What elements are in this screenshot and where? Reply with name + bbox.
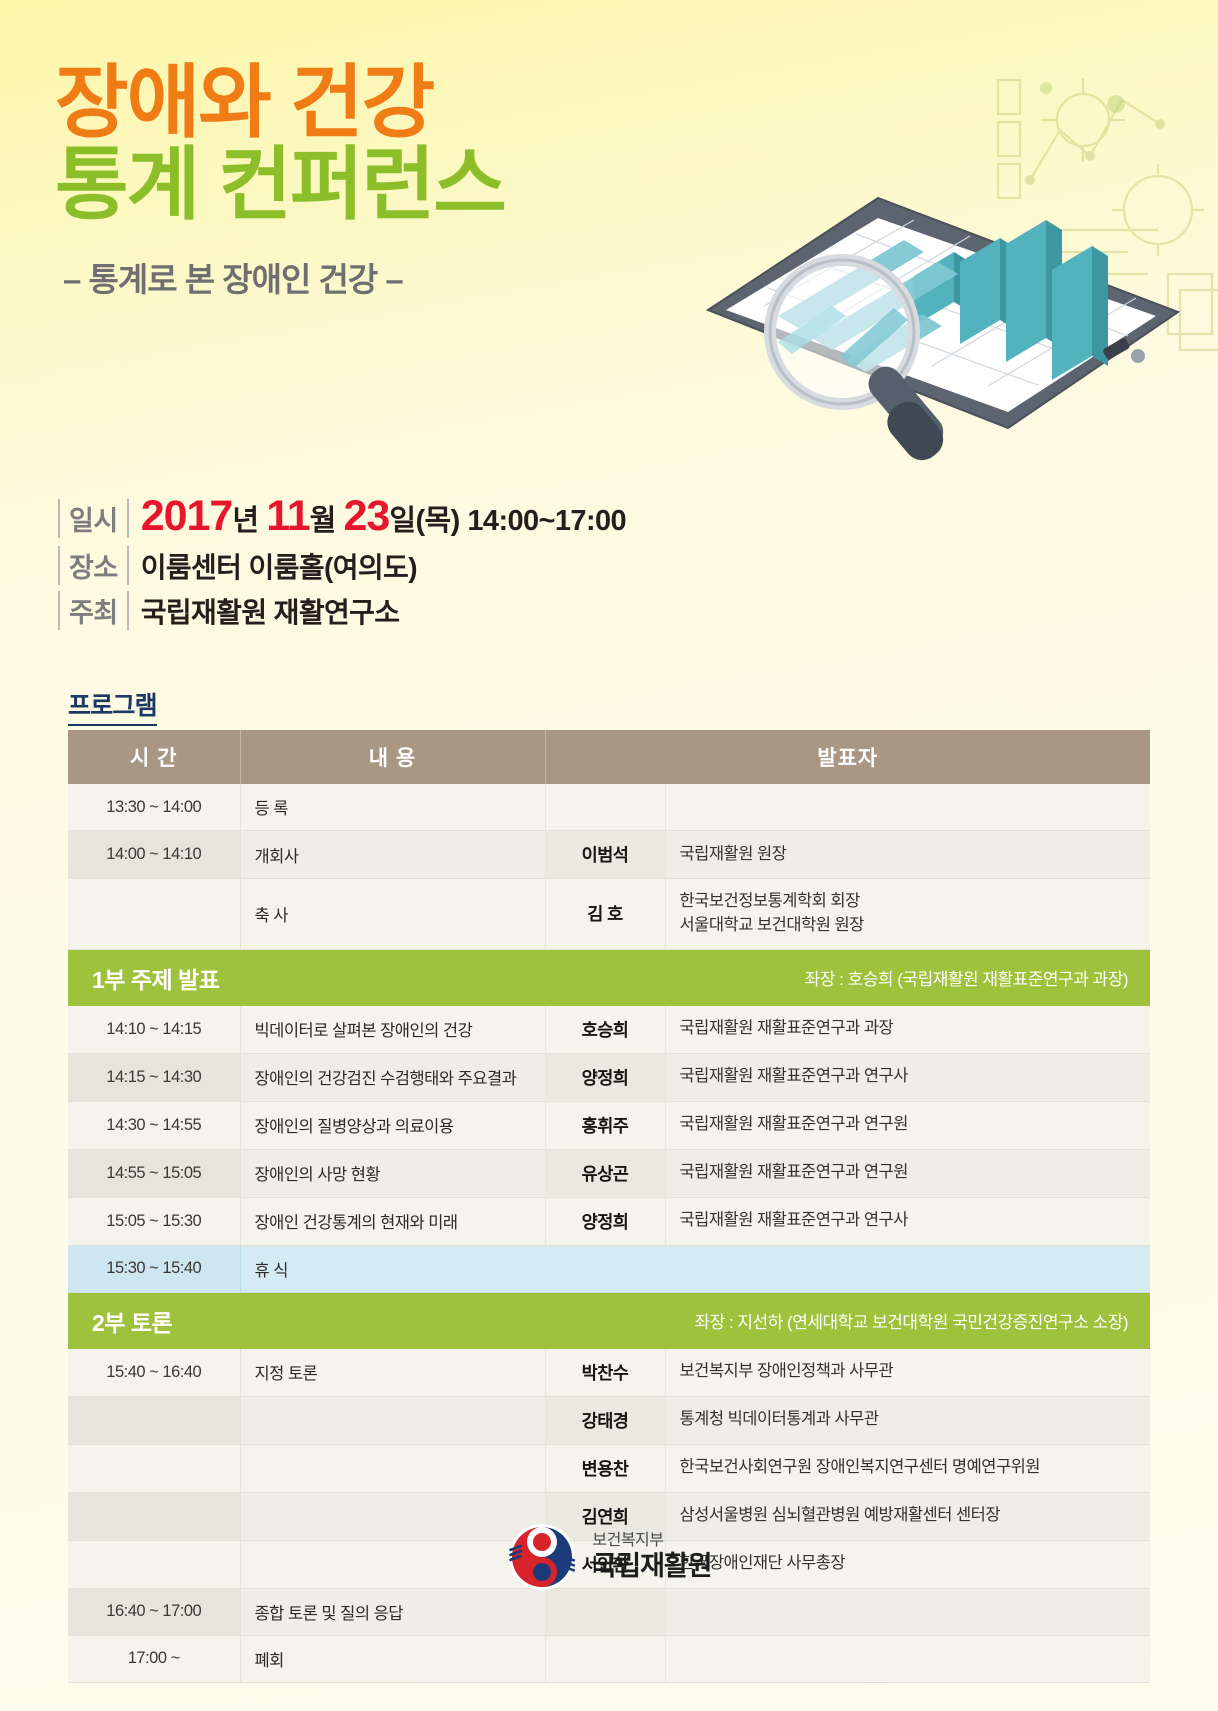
cell-presenter-name: 호승희 — [545, 1006, 665, 1054]
affiliation-line: 한국보건사회연구원 장애인복지연구센터 명예연구위원 — [680, 1456, 1137, 1480]
tablet-chart-illustration — [698, 60, 1218, 520]
event-month-unit: 월 — [310, 505, 336, 537]
event-month: 11 — [266, 492, 309, 540]
cell-time: 15:05 ~ 15:30 — [68, 1197, 240, 1245]
program-row: 축 사김 호한국보건정보통계학회 회장서울대학교 보건대학원 원장 — [68, 879, 1150, 950]
cell-presenter-affiliation: 통계청 빅데이터통계과 사무관 — [665, 1396, 1150, 1444]
footer-logo-text: 보건복지부 국립재활원 — [592, 1532, 711, 1581]
event-day-unit: 일(목) — [389, 505, 459, 537]
affiliation-line: 통계청 빅데이터통계과 사무관 — [680, 1408, 1137, 1432]
cell-presenter-name — [545, 1635, 665, 1682]
cell-presenter-name: 강태경 — [545, 1396, 665, 1444]
cell-presenter-affiliation: 국립재활원 원장 — [665, 831, 1150, 879]
cell-content — [240, 1444, 545, 1492]
program-section-cell: 2부 토론좌장 : 지선하 (연세대학교 보건대학원 국민건강증진연구소 소장) — [68, 1292, 1150, 1349]
cell-content: 축 사 — [240, 879, 545, 950]
cell-time: 14:30 ~ 14:55 — [68, 1101, 240, 1149]
program-row: 13:30 ~ 14:00등 록 — [68, 784, 1150, 831]
cell-time: 14:00 ~ 14:10 — [68, 831, 240, 879]
section-title: 2부 토론 — [92, 1304, 172, 1338]
event-date-label: 일시 — [58, 499, 129, 538]
event-time: 14:00~17:00 — [467, 505, 626, 537]
cell-presenter-affiliation — [665, 1588, 1150, 1635]
cell-content: 지정 토론 — [240, 1349, 545, 1397]
event-day: 23 — [344, 492, 390, 540]
event-info-block: 일시 2017년 11월 23일(목) 14:00~17:00 장소 이룸센터 … — [58, 492, 818, 636]
cell-presenter-affiliation: 한국보건사회연구원 장애인복지연구센터 명예연구위원 — [665, 1444, 1150, 1492]
cell-presenter-name: 양정희 — [545, 1053, 665, 1101]
program-row: 14:00 ~ 14:10개회사이범석국립재활원 원장 — [68, 831, 1150, 879]
footer-ministry-name: 보건복지부 — [592, 1532, 711, 1550]
section-chair: 좌장 : 호승희 (국립재활원 재활표준연구과 과장) — [805, 965, 1128, 990]
cell-presenter-affiliation: 국립재활원 재활표준연구과 연구원 — [665, 1149, 1150, 1197]
cell-presenter-affiliation — [665, 1635, 1150, 1682]
cell-presenter-name — [545, 1245, 665, 1292]
cell-presenter-name: 양정희 — [545, 1197, 665, 1245]
program-row: 16:40 ~ 17:00종합 토론 및 질의 응답 — [68, 1588, 1150, 1635]
cell-content: 종합 토론 및 질의 응답 — [240, 1588, 545, 1635]
cell-time: 16:40 ~ 17:00 — [68, 1588, 240, 1635]
poster-subtitle: – 통계로 본 장애인 건강 – — [63, 253, 675, 301]
event-year: 2017 — [141, 492, 233, 540]
event-place-value: 이룸센터 이룸홀(여의도) — [141, 546, 417, 586]
program-table-head: 시 간 내 용 발표자 — [68, 730, 1150, 784]
cell-presenter-name: 박찬수 — [545, 1349, 665, 1397]
cell-presenter-name: 변용찬 — [545, 1444, 665, 1492]
footer-organization-name: 국립재활원 — [592, 1551, 711, 1582]
affiliation-line: 국립재활원 원장 — [680, 843, 1137, 867]
affiliation-line: 국립재활원 재활표준연구과 연구원 — [680, 1161, 1137, 1185]
affiliation-line: 국립재활원 재활표준연구과 연구사 — [680, 1065, 1137, 1089]
cell-time: 15:40 ~ 16:40 — [68, 1349, 240, 1397]
program-section-cell: 1부 주제 발표좌장 : 호승희 (국립재활원 재활표준연구과 과장) — [68, 949, 1150, 1006]
column-header-time: 시 간 — [68, 730, 240, 784]
affiliation-line: 보건복지부 장애인정책과 사무관 — [680, 1360, 1137, 1384]
cell-presenter-affiliation: 국립재활원 재활표준연구과 연구원 — [665, 1101, 1150, 1149]
program-row: 15:05 ~ 15:30장애인 건강통계의 현재와 미래양정희국립재활원 재활… — [68, 1197, 1150, 1245]
affiliation-line: 국립재활원 재활표준연구과 과장 — [680, 1017, 1137, 1041]
cell-content — [240, 1396, 545, 1444]
cell-presenter-name: 김 호 — [545, 879, 665, 950]
cell-presenter-name — [545, 784, 665, 831]
cell-presenter-affiliation: 한국보건정보통계학회 회장서울대학교 보건대학원 원장 — [665, 879, 1150, 950]
cell-presenter-affiliation: 보건복지부 장애인정책과 사무관 — [665, 1349, 1150, 1397]
cell-time — [68, 879, 240, 950]
section-chair: 좌장 : 지선하 (연세대학교 보건대학원 국민건강증진연구소 소장) — [694, 1308, 1128, 1333]
cell-presenter-affiliation: 국립재활원 재활표준연구과 연구사 — [665, 1053, 1150, 1101]
program-row: 14:15 ~ 14:30장애인의 건강검진 수검행태와 주요결과양정희국립재활… — [68, 1053, 1150, 1101]
cell-presenter-name: 이범석 — [545, 831, 665, 879]
event-place-label: 장소 — [58, 546, 129, 585]
program-row: 17:00 ~폐회 — [68, 1635, 1150, 1682]
program-row: 15:40 ~ 16:40지정 토론박찬수보건복지부 장애인정책과 사무관 — [68, 1349, 1150, 1397]
cell-content: 장애인의 사망 현황 — [240, 1149, 545, 1197]
cell-time — [68, 1396, 240, 1444]
cell-content: 휴 식 — [240, 1245, 545, 1292]
government-emblem-icon — [506, 1521, 578, 1593]
cell-presenter-affiliation: 국립재활원 재활표준연구과 연구사 — [665, 1197, 1150, 1245]
cell-content: 개회사 — [240, 831, 545, 879]
section-bar: 2부 토론좌장 : 지선하 (연세대학교 보건대학원 국민건강증진연구소 소장) — [68, 1293, 1150, 1349]
cell-presenter-name — [545, 1588, 665, 1635]
program-section-row: 2부 토론좌장 : 지선하 (연세대학교 보건대학원 국민건강증진연구소 소장) — [68, 1292, 1150, 1349]
cell-time: 13:30 ~ 14:00 — [68, 784, 240, 831]
affiliation-line: 서울대학교 보건대학원 원장 — [680, 914, 1137, 938]
event-year-unit: 년 — [232, 505, 258, 537]
cell-presenter-affiliation — [665, 784, 1150, 831]
cell-time — [68, 1444, 240, 1492]
event-host-value: 국립재활원 재활연구소 — [141, 591, 400, 631]
event-host-label: 주최 — [58, 591, 129, 630]
poster-title-line-1: 장애와 건강 — [55, 62, 675, 144]
program-break-row: 15:30 ~ 15:40휴 식 — [68, 1245, 1150, 1292]
poster-title-block: 장애와 건강 통계 컨퍼런스 – 통계로 본 장애인 건강 – — [55, 62, 675, 301]
cell-presenter-name: 유상곤 — [545, 1149, 665, 1197]
event-date-row: 일시 2017년 11월 23일(목) 14:00~17:00 — [58, 492, 818, 541]
column-header-content: 내 용 — [240, 730, 545, 784]
program-header-row: 시 간 내 용 발표자 — [68, 730, 1150, 784]
event-place-row: 장소 이룸센터 이룸홀(여의도) — [58, 546, 818, 586]
cell-time: 17:00 ~ — [68, 1635, 240, 1682]
cell-time: 14:10 ~ 14:15 — [68, 1006, 240, 1054]
program-row: 14:30 ~ 14:55장애인의 질병양상과 의료이용홍휘주국립재활원 재활표… — [68, 1101, 1150, 1149]
cell-content: 빅데이터로 살펴본 장애인의 건강 — [240, 1006, 545, 1054]
cell-presenter-affiliation: 국립재활원 재활표준연구과 과장 — [665, 1006, 1150, 1054]
program-row: 강태경통계청 빅데이터통계과 사무관 — [68, 1396, 1150, 1444]
cell-content: 장애인의 질병양상과 의료이용 — [240, 1101, 545, 1149]
program-row: 14:55 ~ 15:05장애인의 사망 현황유상곤국립재활원 재활표준연구과 … — [68, 1149, 1150, 1197]
cell-presenter-affiliation — [665, 1245, 1150, 1292]
event-date-value: 2017년 11월 23일(목) 14:00~17:00 — [141, 492, 626, 541]
affiliation-line: 국립재활원 재활표준연구과 연구사 — [680, 1209, 1137, 1233]
cell-content: 폐회 — [240, 1635, 545, 1682]
program-row: 14:10 ~ 14:15빅데이터로 살펴본 장애인의 건강호승희국립재활원 재… — [68, 1006, 1150, 1054]
section-title: 1부 주제 발표 — [92, 961, 219, 995]
poster-title-line-2: 통계 컨퍼런스 — [55, 144, 675, 226]
program-section-row: 1부 주제 발표좌장 : 호승희 (국립재활원 재활표준연구과 과장) — [68, 949, 1150, 1006]
section-bar: 1부 주제 발표좌장 : 호승희 (국립재활원 재활표준연구과 과장) — [68, 950, 1150, 1006]
cell-time: 14:15 ~ 14:30 — [68, 1053, 240, 1101]
cell-content: 등 록 — [240, 784, 545, 831]
affiliation-line: 국립재활원 재활표준연구과 연구원 — [680, 1113, 1137, 1137]
cell-content: 장애인의 건강검진 수검행태와 주요결과 — [240, 1053, 545, 1101]
cell-time: 15:30 ~ 15:40 — [68, 1245, 240, 1292]
conference-poster: 장애와 건강 통계 컨퍼런스 – 통계로 본 장애인 건강 – 일시 2017년… — [0, 0, 1218, 1711]
affiliation-line: 한국보건정보통계학회 회장 — [680, 890, 1137, 914]
cell-content: 장애인 건강통계의 현재와 미래 — [240, 1197, 545, 1245]
event-host-row: 주최 국립재활원 재활연구소 — [58, 591, 818, 631]
program-row: 변용찬한국보건사회연구원 장애인복지연구센터 명예연구위원 — [68, 1444, 1150, 1492]
column-header-presenter: 발표자 — [545, 730, 1150, 784]
cell-time: 14:55 ~ 15:05 — [68, 1149, 240, 1197]
cell-presenter-name: 홍휘주 — [545, 1101, 665, 1149]
program-heading: 프로그램 — [68, 686, 157, 726]
footer-logo: 보건복지부 국립재활원 — [0, 1521, 1218, 1593]
